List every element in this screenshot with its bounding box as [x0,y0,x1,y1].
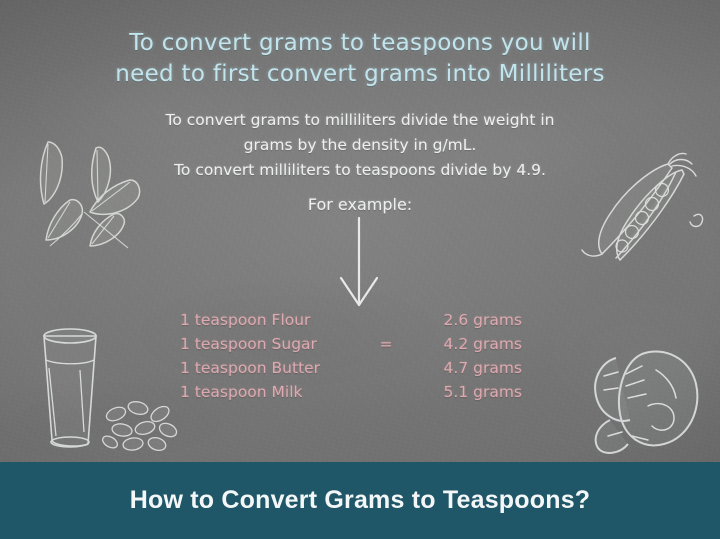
instruction-line-1: To convert grams to milliliters divide t… [110,108,610,133]
pea-pod-icon [576,150,712,270]
conversion-item: 1 teaspoon Milk [180,380,365,404]
leaf-sprig-icon [10,128,146,254]
conversion-value: 4.2 grams [407,332,530,356]
bottom-banner: How to Convert Grams to Teaspoons? [0,462,720,539]
conversion-item: 1 teaspoon Flour [180,308,365,332]
conversion-item: 1 teaspoon Sugar [180,332,365,356]
headline-line-2: need to first convert grams into Millili… [60,59,660,90]
instruction-line-3: To convert milliliters to teaspoons divi… [110,158,610,183]
headline: To convert grams to teaspoons you will n… [60,28,660,90]
conversion-list: 1 teaspoon Flour 2.6 grams 1 teaspoon Su… [180,308,530,404]
conversion-value: 5.1 grams [407,380,530,404]
banner-title: How to Convert Grams to Teaspoons? [130,486,591,515]
table-row: 1 teaspoon Sugar = 4.2 grams [180,332,530,356]
conversion-value: 4.7 grams [407,356,530,380]
conversion-value: 2.6 grams [407,308,530,332]
instruction-line-2: grams by the density in g/mL. [110,133,610,158]
example-label: For example: [110,192,610,217]
down-arrow-icon [330,216,388,312]
table-row: 1 teaspoon Flour 2.6 grams [180,308,530,332]
table-row: 1 teaspoon Milk 5.1 grams [180,380,530,404]
headline-line-1: To convert grams to teaspoons you will [60,28,660,59]
conversion-item: 1 teaspoon Butter [180,356,365,380]
ginger-root-icon [586,340,714,458]
poster-canvas: To convert grams to teaspoons you will n… [0,0,720,539]
water-glass-and-beans-icon [14,318,184,454]
table-row: 1 teaspoon Butter 4.7 grams [180,356,530,380]
conversion-eq: = [365,332,407,356]
instructions-block: To convert grams to milliliters divide t… [110,108,610,217]
